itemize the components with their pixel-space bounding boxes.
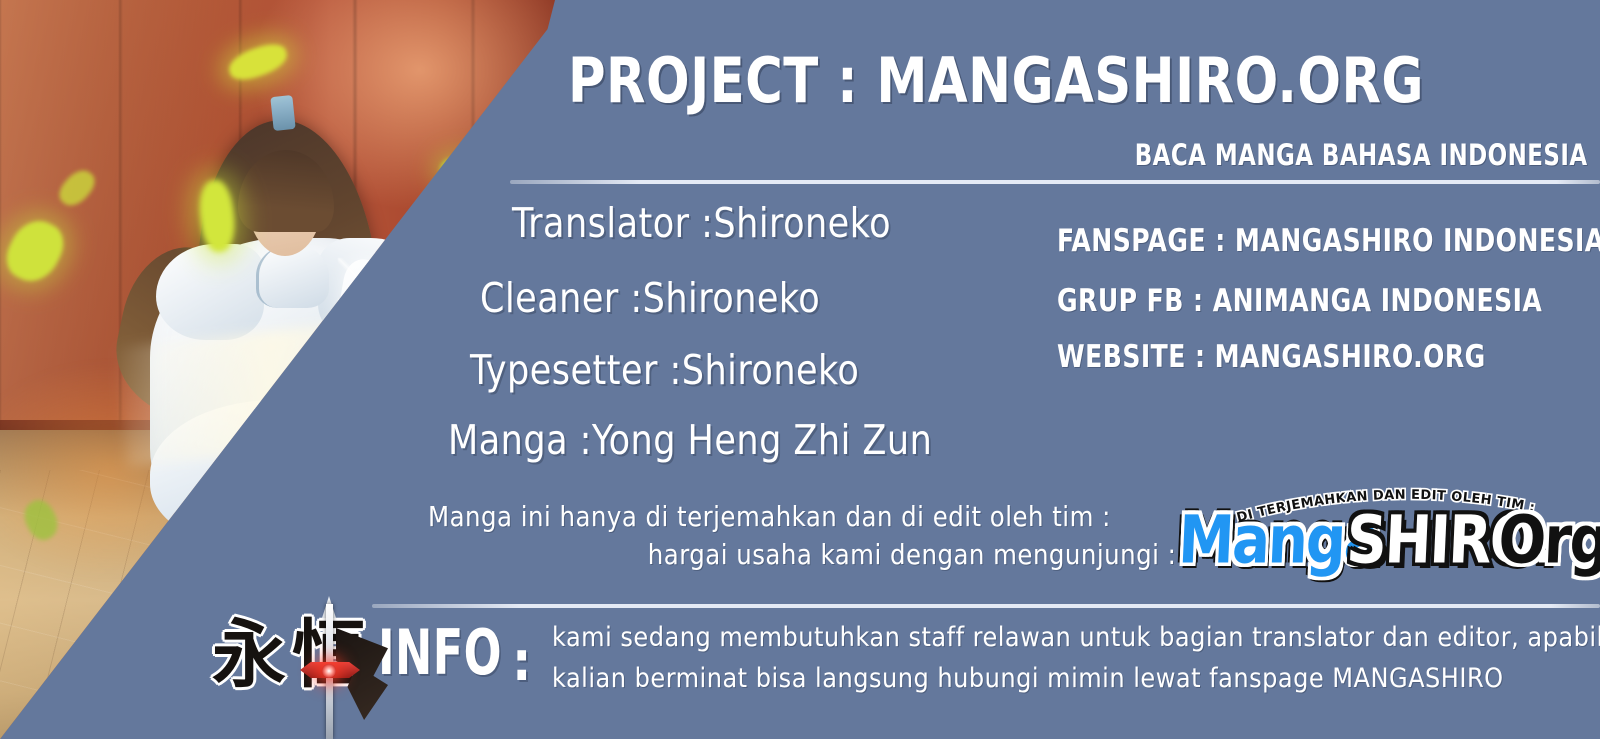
mangashiro-logo[interactable]: DI TERJEMAHKAN DAN EDIT OLEH TIM : Manga… xyxy=(1180,494,1594,582)
info-line-2: kalian berminat bisa langsung hubungi mi… xyxy=(552,663,1504,694)
gem-icon xyxy=(322,664,336,678)
series-logo: 永 恒 xyxy=(208,604,378,736)
contact-website: WEBSITE : MANGASHIRO.ORG xyxy=(1057,339,1486,375)
note-line-1: Manga ini hanya di terjemahkan dan di ed… xyxy=(428,500,1111,533)
contact-fanspage: FANSPAGE : MANGASHIRO INDONESIA xyxy=(1057,223,1600,259)
divider-bottom xyxy=(372,604,1600,608)
page-title: PROJECT : MANGASHIRO.ORG xyxy=(568,44,1424,117)
credits-banner: 永 恒 PROJECT : MANGASHIRO.ORG BACA MANGA … xyxy=(0,0,1600,739)
series-logo-char-yong: 永 xyxy=(212,618,286,692)
note-line-2: hargai usaha kami dengan mengunjungi : xyxy=(648,538,1177,571)
credit-translator: Translator :Shironeko xyxy=(512,199,891,247)
credit-manga-title: Manga :Yong Heng Zhi Zun xyxy=(448,416,932,464)
logo-part-org: Org xyxy=(1497,508,1600,574)
contact-grup-fb: GRUP FB : ANIMANGA INDONESIA xyxy=(1057,283,1542,319)
info-line-1: kami sedang membutuhkan staff relawan un… xyxy=(552,622,1600,653)
info-label: INFO xyxy=(378,616,502,689)
info-colon: : xyxy=(512,630,532,693)
credit-typesetter: Typesetter :Shironeko xyxy=(470,346,859,394)
divider-top xyxy=(510,180,1600,184)
credit-cleaner: Cleaner :Shironeko xyxy=(480,274,820,322)
page-subtitle: BACA MANGA BAHASA INDONESIA xyxy=(1135,138,1588,172)
